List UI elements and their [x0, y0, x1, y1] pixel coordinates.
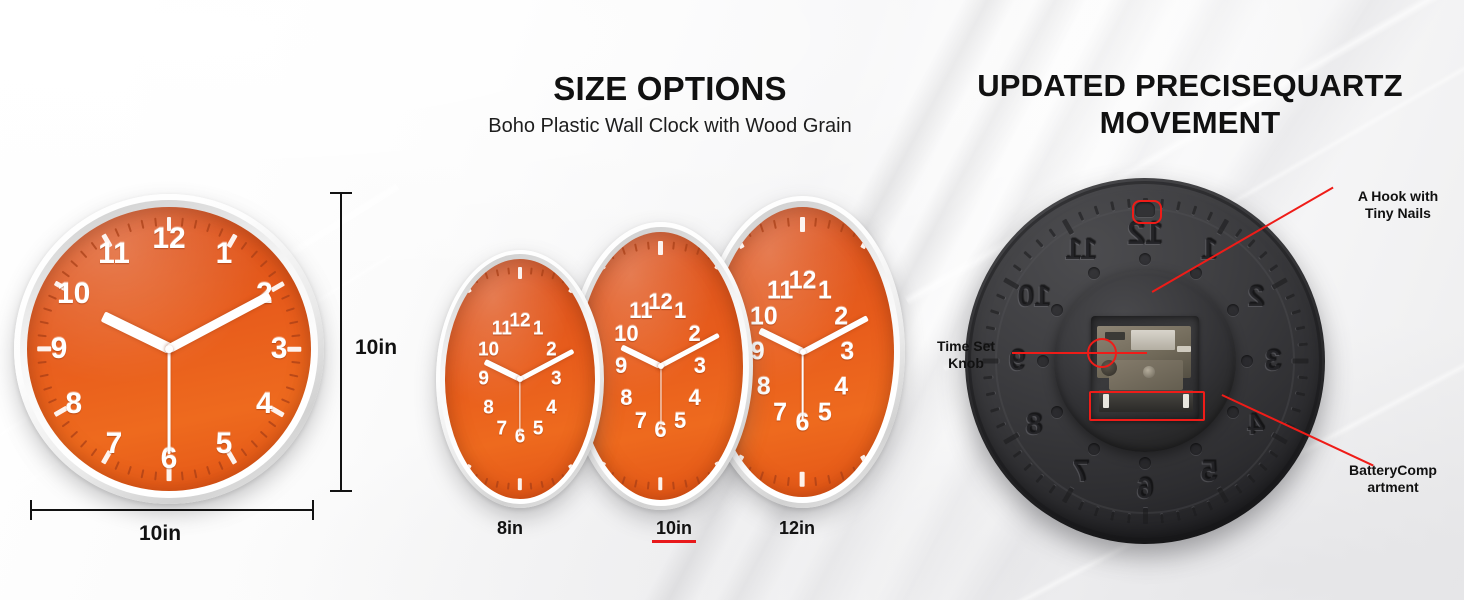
hero-clock: 121234567891011 [14, 194, 324, 504]
clock-numeral: 8 [65, 389, 82, 419]
back-clock-boss [1227, 406, 1239, 418]
back-clock-boss [1139, 457, 1151, 469]
back-clock-numeral: 8 [1026, 410, 1043, 440]
clock-tick-minor [672, 482, 675, 490]
back-clock-numeral: 6 [1137, 474, 1154, 504]
clock-second-hand [660, 366, 661, 427]
clock-numeral: 1 [674, 300, 686, 322]
battery-annotation-line1: BatteryComp [1349, 462, 1437, 478]
clock-numeral: 12 [509, 311, 530, 330]
back-clock-numeral: 11 [1065, 235, 1097, 265]
infographic-canvas: SIZE OPTIONS Boho Plastic Wall Clock wit… [0, 0, 1464, 600]
clock-numeral: 5 [216, 429, 233, 459]
height-dimension-label: 10in [355, 336, 397, 360]
back-tick-minor [1126, 199, 1130, 208]
clock-tick-minor [647, 242, 650, 250]
clock-numeral: 7 [106, 429, 123, 459]
back-tick-major [1292, 359, 1308, 364]
time-set-annotation-line [1012, 352, 1147, 354]
clock-numeral: 9 [51, 334, 68, 364]
battery-annotation-line2: artment [1367, 479, 1418, 495]
clock-numeral: 5 [818, 401, 832, 426]
clock-numeral: 10 [478, 340, 499, 359]
battery-compartment-highlight [1089, 391, 1205, 421]
clock-numeral: 8 [620, 387, 632, 409]
clock-tick-major [658, 241, 662, 254]
clock-face: 121234567891011 [27, 207, 311, 491]
back-clock-boss [1088, 267, 1100, 279]
clock-tick-major [658, 477, 662, 490]
movement-title: UPDATED PRECISEQUARTZ MOVEMENT [928, 67, 1452, 141]
clock-tick-major [518, 479, 522, 491]
clock-tick-minor [647, 482, 650, 490]
clock-numeral: 7 [635, 410, 647, 432]
clock-numeral: 3 [694, 355, 706, 377]
clock-tick-major [800, 472, 805, 487]
clock-tick-minor [672, 242, 675, 250]
size-options-subtitle: Boho Plastic Wall Clock with Wood Grain [390, 115, 950, 138]
size-option-8in[interactable]: 8in [497, 518, 523, 539]
clock-numeral: 4 [688, 387, 700, 409]
clock-numeral: 11 [629, 300, 652, 322]
clock-tick-major [800, 217, 805, 232]
size-options-title: SIZE OPTIONS [390, 70, 950, 108]
clock-numeral: 8 [757, 375, 771, 400]
clock-numeral: 10 [614, 323, 638, 345]
back-clock-boss [1051, 304, 1063, 316]
clock-numeral: 3 [551, 370, 562, 389]
back-clock-boss [1088, 443, 1100, 455]
back-clock-numeral: 7 [1073, 457, 1090, 487]
clock-numeral: 11 [767, 278, 793, 303]
hook-annotation-label: A Hook with Tiny Nails [1336, 188, 1460, 222]
back-clock-numeral: 3 [1265, 346, 1282, 376]
back-tick-major [1143, 508, 1148, 524]
clock-numeral: 4 [546, 399, 557, 418]
clock-center-cap [658, 363, 664, 369]
clock-numeral: 9 [478, 370, 489, 389]
clock-numeral: 4 [834, 375, 848, 400]
width-dimension-label: 10in [139, 522, 181, 546]
clock-numeral: 12 [152, 224, 185, 254]
clock-back-view: 121234567891011 [965, 178, 1325, 544]
battery-annotation-label: BatteryComp artment [1330, 462, 1456, 496]
back-clock-boss [1139, 253, 1151, 265]
size-option-10in-selected-underline [652, 540, 696, 543]
clock-numeral: 3 [271, 334, 288, 364]
clock-numeral: 5 [533, 420, 544, 439]
back-clock-numeral: 2 [1248, 282, 1265, 312]
clock-tick-major [287, 347, 301, 352]
clock-tick-major [37, 347, 51, 352]
clock-numeral: 4 [256, 389, 273, 419]
back-clock-boss [1241, 355, 1253, 367]
clock-size-8in[interactable]: 121234567891011 [436, 250, 604, 508]
hook-annotation-line2: Tiny Nails [1365, 205, 1431, 221]
clock-numeral: 1 [533, 319, 544, 338]
back-clock-boss [1051, 406, 1063, 418]
clock-numeral: 7 [497, 420, 508, 439]
clock-numeral: 10 [750, 304, 778, 329]
time-set-annotation-line2: Knob [948, 355, 984, 371]
clock-center-cap [800, 349, 806, 355]
back-clock-boss [1227, 304, 1239, 316]
time-set-annotation-label: Time Set Knob [920, 338, 1012, 372]
back-tick-minor [1126, 514, 1130, 523]
clock-numeral: 11 [492, 319, 512, 338]
clock-numeral: 3 [840, 340, 854, 365]
clock-center-cap [517, 376, 523, 382]
clock-numeral: 10 [57, 279, 90, 309]
size-option-10in[interactable]: 10in [656, 518, 692, 539]
clock-numeral: 8 [483, 399, 494, 418]
clock-numeral: 1 [216, 239, 233, 269]
back-clock-boss [1190, 443, 1202, 455]
hook-highlight [1132, 200, 1162, 224]
clock-second-hand [168, 349, 171, 454]
hook-annotation-line1: A Hook with [1358, 188, 1438, 204]
clock-numeral: 5 [674, 410, 686, 432]
back-clock-boss [1037, 355, 1049, 367]
clock-center-cap [165, 345, 173, 353]
clock-numeral: 9 [615, 355, 627, 377]
back-clock-numeral: 10 [1017, 282, 1050, 312]
clock-numeral: 1 [818, 278, 832, 303]
time-set-annotation-line1: Time Set [937, 338, 995, 354]
clock-numeral: 11 [98, 239, 130, 269]
clock-second-hand [802, 352, 804, 420]
back-tick-minor [1160, 514, 1164, 523]
back-clock-numeral: 5 [1201, 457, 1218, 487]
clock-face: 121234567891011 [445, 259, 595, 499]
size-option-12in[interactable]: 12in [779, 518, 815, 539]
clock-tick-major [518, 267, 522, 279]
clock-numeral: 7 [773, 401, 787, 426]
